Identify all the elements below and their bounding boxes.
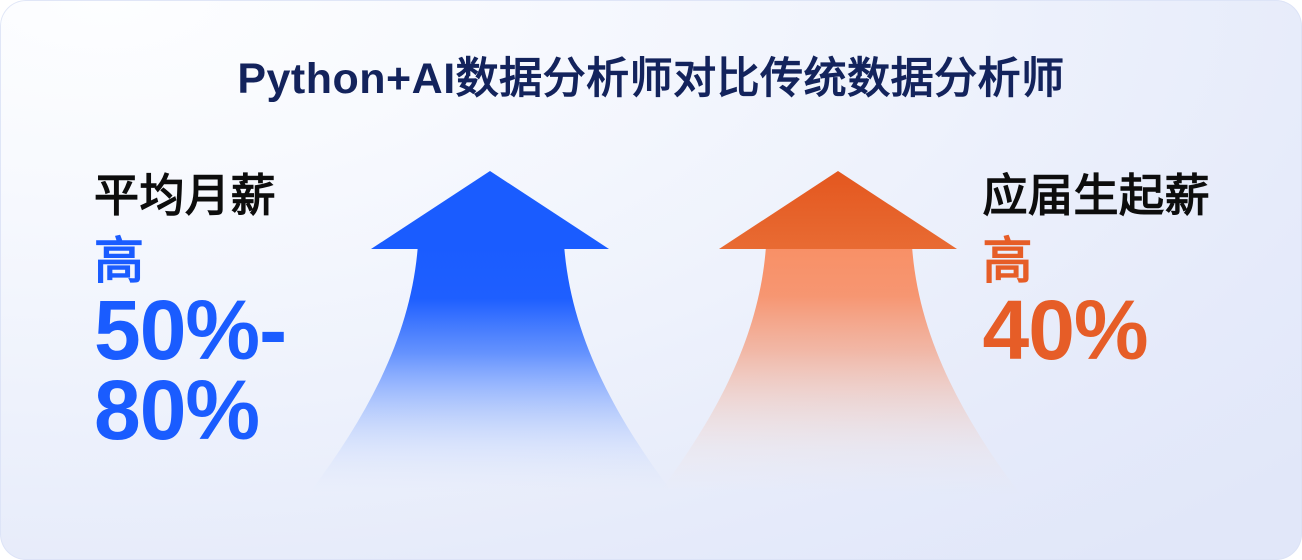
stat-value-graduate-salary: 40% xyxy=(982,290,1210,371)
stat-block-graduate-salary: 应届生起薪 高 40% xyxy=(982,172,1210,370)
stat-prefix-average-salary: 高 xyxy=(94,236,286,286)
content-layer: Python+AI数据分析师对比传统数据分析师 平均月薪 高 50%- 80% … xyxy=(0,0,1302,560)
stat-block-average-salary: 平均月薪 高 50%- 80% xyxy=(94,172,286,451)
stat-value-average-salary: 50%- 80% xyxy=(94,290,286,451)
stat-prefix-graduate-salary: 高 xyxy=(982,236,1210,286)
stat-label-graduate-salary: 应届生起薪 xyxy=(982,172,1210,220)
page-title: Python+AI数据分析师对比传统数据分析师 xyxy=(0,44,1302,106)
stat-label-average-salary: 平均月薪 xyxy=(94,172,286,220)
infographic-canvas: Python+AI数据分析师对比传统数据分析师 平均月薪 高 50%- 80% … xyxy=(0,0,1302,560)
